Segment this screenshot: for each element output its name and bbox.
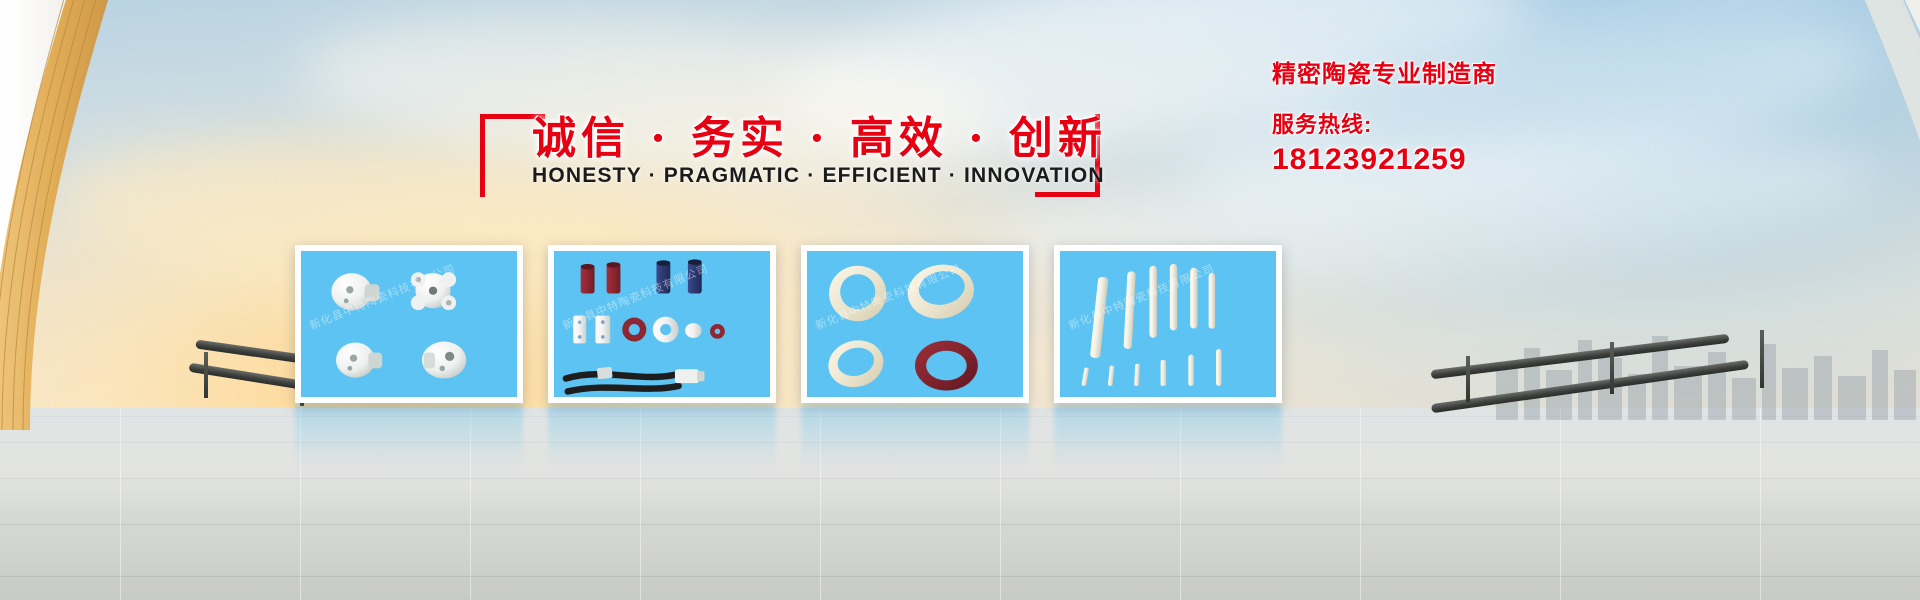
product-panel-group: 新化县中特陶瓷科技有限公司: [295, 245, 1285, 403]
railing-post: [1466, 356, 1470, 402]
railing-post: [1760, 330, 1764, 388]
ceramic-rods-pins-image: [1060, 251, 1276, 397]
product-panel-ceramic-nozzle-bodies[interactable]: 新化县中特陶瓷科技有限公司: [295, 245, 523, 403]
contact-block: 精密陶瓷专业制造商 服务热线: 18123921259: [1272, 54, 1892, 177]
railing-post: [204, 352, 208, 398]
slogan-chinese: 诚信 · 务实 · 高效 · 创新: [532, 102, 1052, 166]
ceramic-tubes-rings-terminals-image: [554, 251, 770, 397]
floor-reflection: [0, 408, 1920, 518]
slogan-block: 诚信 · 务实 · 高效 · 创新 HONESTY · PRAGMATIC · …: [480, 96, 1100, 206]
product-panel-ceramic-rings[interactable]: 新化县中特陶瓷科技有限公司: [801, 245, 1029, 403]
slogan-english: HONESTY · PRAGMATIC · EFFICIENT · INNOVA…: [532, 164, 1052, 188]
curved-architecture-left: [0, 0, 290, 430]
railing-post: [1610, 342, 1614, 394]
hotline-phone-number[interactable]: 18123921259: [1272, 143, 1892, 177]
promo-banner: 诚信 · 务实 · 高效 · 创新 HONESTY · PRAGMATIC · …: [0, 0, 1920, 600]
ceramic-rings-image: [807, 251, 1023, 397]
hotline-label: 服务热线:: [1272, 107, 1892, 139]
product-panel-ceramic-tubes-rings-terminals[interactable]: 新化县中特陶瓷科技有限公司: [548, 245, 776, 403]
product-panel-ceramic-rods-pins[interactable]: 新化县中特陶瓷科技有限公司: [1054, 245, 1282, 403]
company-tagline: 精密陶瓷专业制造商: [1272, 54, 1892, 89]
ceramic-nozzle-bodies-image: [301, 251, 517, 397]
